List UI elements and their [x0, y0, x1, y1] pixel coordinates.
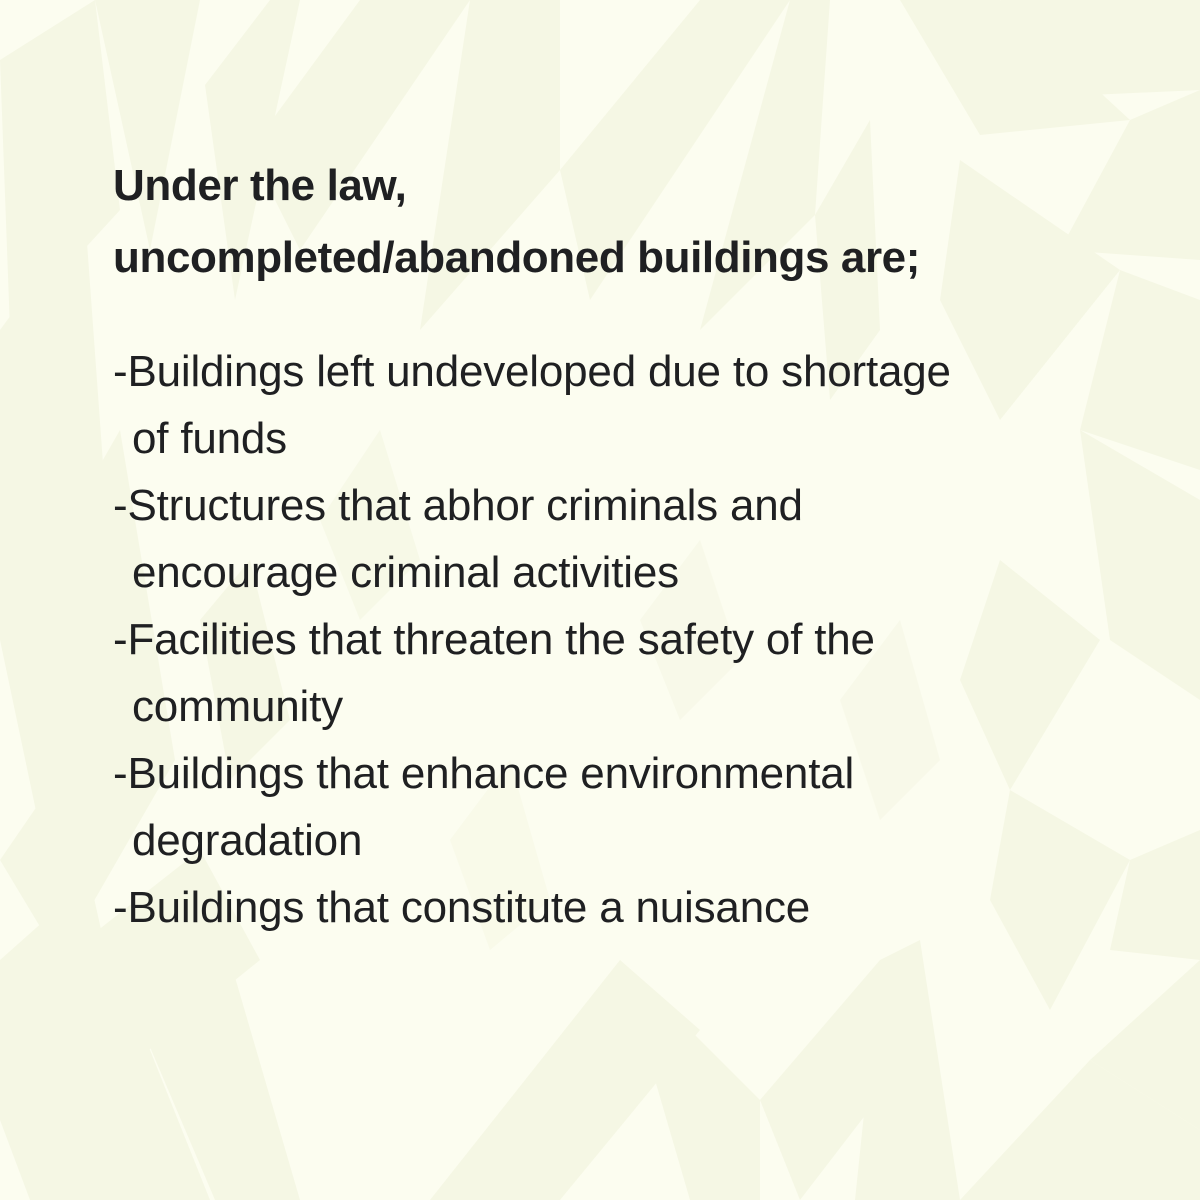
- list-item: -Structures that abhor criminals and enc…: [113, 472, 1133, 606]
- page-title: Under the law, uncompleted/abandoned bui…: [113, 150, 1133, 294]
- list-item: -Buildings that enhance environmental de…: [113, 740, 1133, 874]
- list-item: -Buildings that constitute a nuisance: [113, 874, 1133, 941]
- bullet-list: -Buildings left undeveloped due to short…: [113, 338, 1133, 941]
- list-item: -Facilities that threaten the safety of …: [113, 606, 1133, 740]
- poster-canvas: Under the law, uncompleted/abandoned bui…: [0, 0, 1200, 1200]
- list-item: -Buildings left undeveloped due to short…: [113, 338, 1133, 472]
- poster-content: Under the law, uncompleted/abandoned bui…: [113, 150, 1133, 941]
